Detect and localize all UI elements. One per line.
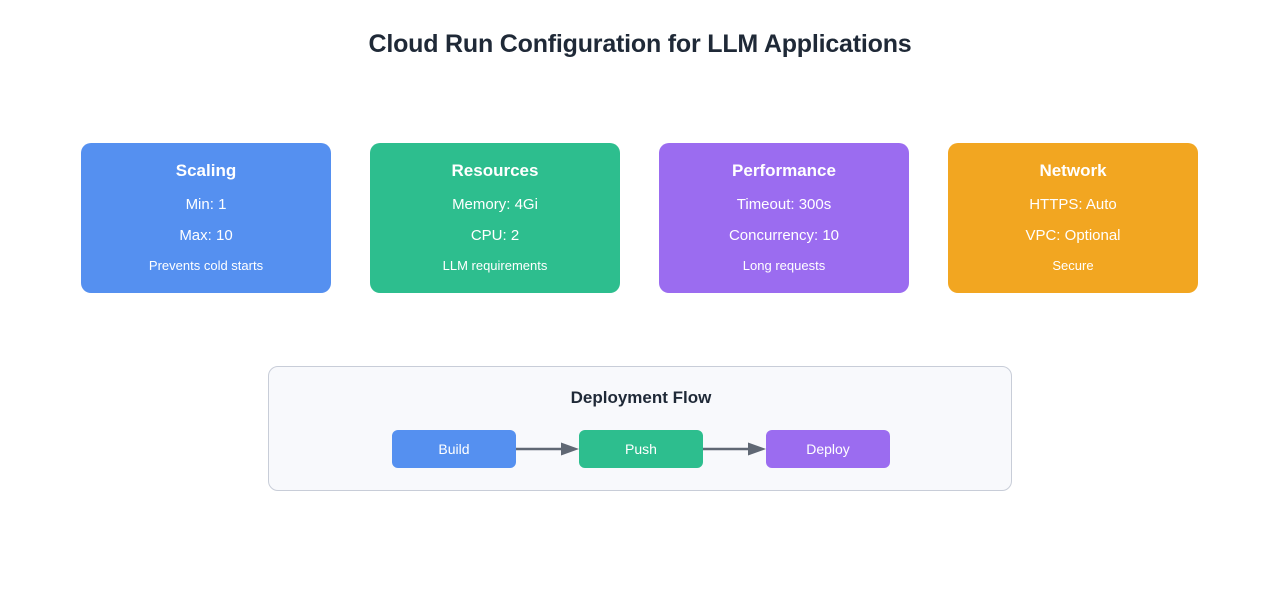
card-metric: Concurrency: 10 [729, 227, 839, 245]
card-note: Secure [1052, 258, 1093, 273]
flow-node-push[interactable]: Push [579, 430, 703, 468]
flow-arrow-icon [703, 441, 766, 457]
flow-arrow-icon [516, 441, 579, 457]
page-title: Cloud Run Configuration for LLM Applicat… [0, 30, 1280, 59]
config-card-performance[interactable]: Performance Timeout: 300s Concurrency: 1… [659, 143, 909, 293]
flow-node-deploy[interactable]: Deploy [766, 430, 890, 468]
flow-node-label: Deploy [806, 441, 850, 457]
flow-node-build[interactable]: Build [392, 430, 516, 468]
card-metric: Timeout: 300s [737, 196, 832, 214]
card-note: Long requests [743, 258, 825, 273]
deployment-flow-steps: Build Push Deploy [269, 430, 1013, 468]
card-note: LLM requirements [443, 258, 548, 273]
config-card-resources[interactable]: Resources Memory: 4Gi CPU: 2 LLM require… [370, 143, 620, 293]
flow-node-label: Push [625, 441, 657, 457]
card-title: Scaling [176, 161, 236, 181]
card-metric: Max: 10 [179, 227, 232, 245]
deployment-flow-title: Deployment Flow [269, 388, 1013, 408]
config-card-network[interactable]: Network HTTPS: Auto VPC: Optional Secure [948, 143, 1198, 293]
deployment-flow-panel: Deployment Flow Build Push Deploy [268, 366, 1012, 491]
card-title: Network [1039, 161, 1106, 181]
card-metric: Min: 1 [186, 196, 227, 214]
config-card-row: Scaling Min: 1 Max: 10 Prevents cold sta… [81, 143, 1198, 293]
card-title: Performance [732, 161, 836, 181]
card-metric: CPU: 2 [471, 227, 519, 245]
config-card-scaling[interactable]: Scaling Min: 1 Max: 10 Prevents cold sta… [81, 143, 331, 293]
card-title: Resources [452, 161, 539, 181]
card-metric: Memory: 4Gi [452, 196, 538, 214]
card-metric: VPC: Optional [1025, 227, 1120, 245]
card-metric: HTTPS: Auto [1029, 196, 1117, 214]
card-note: Prevents cold starts [149, 258, 263, 273]
flow-node-label: Build [438, 441, 469, 457]
